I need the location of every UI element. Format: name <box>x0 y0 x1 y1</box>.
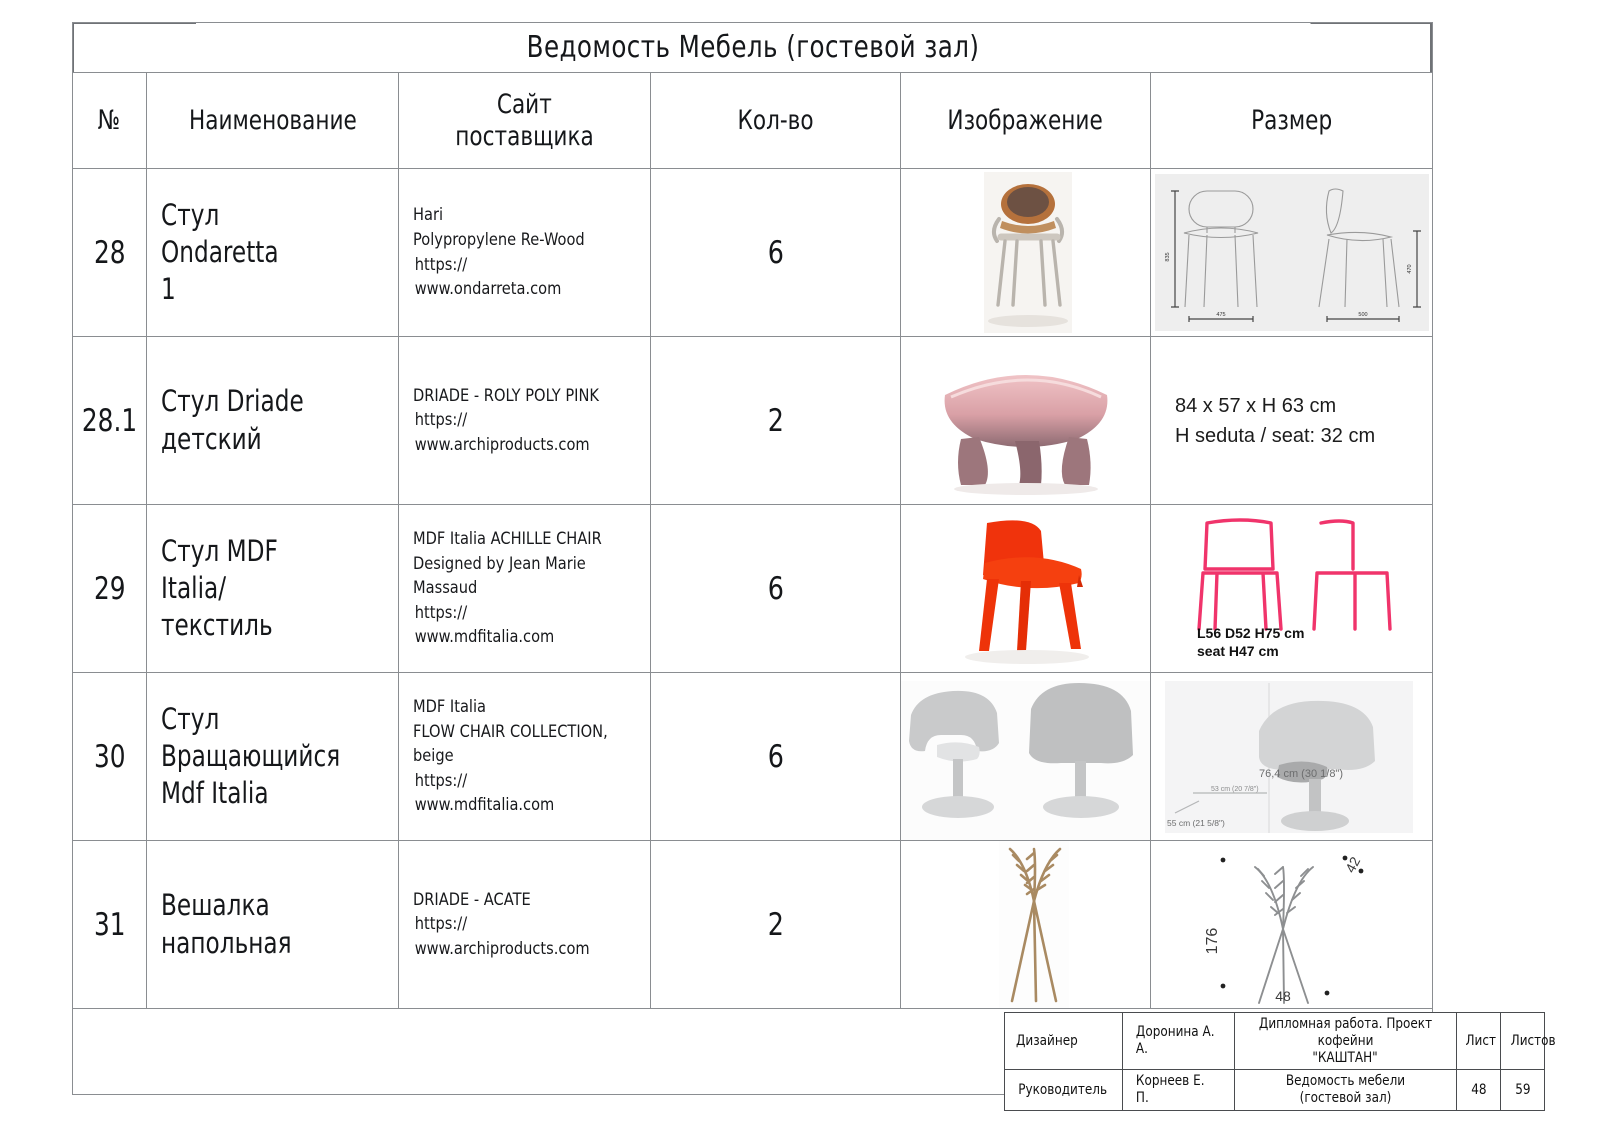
title-block-role-label: Дизайнер <box>1016 1033 1078 1050</box>
table-row: 31 Вешалка напольная DRIADE - ACATE http… <box>73 841 1433 1009</box>
title-block-person-supervisor: Корнеев Е. П. <box>1123 1070 1235 1111</box>
row-name-line: Вешалка <box>161 887 343 924</box>
row-name: Стул Driade детский <box>147 337 399 505</box>
row-name: Вешалка напольная <box>147 841 399 1009</box>
title-block-person-name: Доронина А. А. <box>1136 1024 1221 1058</box>
size-text-lines: 84 x 57 x H 63 cm H seduta / seat: 32 cm <box>1151 391 1375 451</box>
project-title-line1: Дипломная работа. Проект кофейни <box>1256 1016 1436 1050</box>
row-quantity-value: 2 <box>767 907 783 943</box>
supplier-line: MDF Italia <box>413 695 608 720</box>
sheet-label: Лист <box>1457 1013 1501 1070</box>
column-header-image: Изображение <box>901 73 1151 169</box>
column-header-name-label: Наименование <box>189 105 357 136</box>
pink-chair-outline-front-side: L56 D52 H75 cm seat H47 cm <box>1151 505 1432 672</box>
row-quantity: 2 <box>651 841 901 1009</box>
supplier-url-line[interactable]: https:// <box>413 408 608 433</box>
size-text-line: H seduta / seat: 32 cm <box>1175 421 1375 451</box>
chair-photo-illustration <box>901 169 1150 336</box>
row-number: 28 <box>73 169 147 337</box>
column-header-quantity: Кол-во <box>651 73 901 169</box>
row-name-line: Italia/ <box>161 570 343 607</box>
project-title-line2: "КАШТАН" <box>1313 1050 1378 1067</box>
row-quantity: 6 <box>651 673 901 841</box>
row-quantity-value: 2 <box>767 403 783 439</box>
supplier-line: MDF Italia ACHILLE CHAIR <box>413 527 608 552</box>
row-quantity: 2 <box>651 337 901 505</box>
chair-photo-illustration <box>901 673 1150 840</box>
svg-text:835: 835 <box>1165 252 1171 261</box>
row-quantity-value: 6 <box>767 571 783 607</box>
supplier-line: FLOW CHAIR COLLECTION, <box>413 720 608 745</box>
title-block: Дизайнер Доронина А. А. Дипломная работа… <box>1004 1012 1545 1111</box>
chair-photo-illustration <box>901 337 1150 504</box>
supplier-url-line[interactable]: www.mdfitalia.com <box>413 625 608 650</box>
row-supplier: MDF Italia FLOW CHAIR COLLECTION, beige … <box>399 673 651 841</box>
table-row: 28 Стул Ondaretta 1 Hari Polypropylene R… <box>73 169 1433 337</box>
row-number: 28.1 <box>73 337 147 505</box>
size-caption-line: seat H47 cm <box>1197 642 1304 660</box>
sheets-label: Листов <box>1501 1013 1545 1070</box>
chair-front-side-technical-drawing: 835 475 500 470 <box>1151 169 1432 336</box>
ondaretta-hari-chair-photo <box>901 169 1150 336</box>
supplier-url-line[interactable]: www.archiproducts.com <box>413 433 608 458</box>
row-number-value: 28.1 <box>82 403 137 439</box>
coat-stand-photo-illustration <box>901 841 1150 1008</box>
size-caption-line: L56 D52 H75 cm <box>1197 624 1304 642</box>
row-name: Стул Вращающийся Mdf Italia <box>147 673 399 841</box>
size-caption: L56 D52 H75 cm seat H47 cm <box>1197 624 1304 660</box>
project-title: Дипломная работа. Проект кофейни "КАШТАН… <box>1235 1013 1457 1070</box>
furniture-specification-table: Ведомость Мебель (гостевой зал) № Наимен… <box>72 22 1433 1095</box>
row-supplier: Hari Polypropylene Re-Wood https:// www.… <box>399 169 651 337</box>
row-name-line: Стул MDF <box>161 533 343 570</box>
row-product-image <box>901 505 1151 673</box>
column-header-number: № <box>73 73 147 169</box>
supplier-line: DRIADE - ROLY POLY PINK <box>413 384 608 409</box>
row-quantity-value: 6 <box>767 235 783 271</box>
row-number: 31 <box>73 841 147 1009</box>
row-name-line: текстиль <box>161 607 343 644</box>
supplier-url-line[interactable]: https:// <box>413 601 608 626</box>
supplier-line: Massaud <box>413 576 608 601</box>
mdf-italia-flow-chair-grey-pair-photo <box>901 673 1150 840</box>
supplier-line: Designed by Jean Marie <box>413 552 608 577</box>
sheet-number-value: 48 <box>1471 1082 1486 1099</box>
row-size: 76,4 cm (30 1/8") 53 cm (20 7/8") 55 cm … <box>1151 673 1433 841</box>
row-supplier: DRIADE - ROLY POLY PINK https:// www.arc… <box>399 337 651 505</box>
row-name-line: Стул <box>161 701 343 738</box>
svg-text:76,4 cm (30 1/8"): 76,4 cm (30 1/8") <box>1259 768 1343 780</box>
title-block-role-label: Руководитель <box>1018 1082 1107 1099</box>
drawing-sheet: Ведомость Мебель (гостевой зал) № Наимен… <box>0 0 1600 1132</box>
column-header-image-label: Изображение <box>948 105 1103 136</box>
row-product-image <box>901 337 1151 505</box>
supplier-url-line[interactable]: https:// <box>413 769 608 794</box>
column-header-quantity-label: Кол-во <box>737 105 813 136</box>
technical-dimension-drawing: 835 475 500 470 <box>1151 169 1432 336</box>
row-quantity-value: 6 <box>767 739 783 775</box>
dimension-drawing: 176 42 48 <box>1151 841 1432 1008</box>
sheet-subject: Ведомость мебели (гостевой зал) <box>1235 1070 1457 1111</box>
row-name-line: детский <box>161 421 343 458</box>
row-number: 29 <box>73 505 147 673</box>
supplier-url-line[interactable]: www.ondarreta.com <box>413 277 608 302</box>
row-product-image <box>901 841 1151 1009</box>
row-name: Стул MDF Italia/ текстиль <box>147 505 399 673</box>
sheet-label-text: Лист <box>1465 1033 1496 1050</box>
row-number-value: 28 <box>94 235 126 271</box>
row-number: 30 <box>73 673 147 841</box>
svg-text:500: 500 <box>1358 312 1367 318</box>
row-size: 84 x 57 x H 63 cm H seduta / seat: 32 cm <box>1151 337 1433 505</box>
sheet-subject-text: Ведомость мебели (гостевой зал) <box>1256 1073 1436 1107</box>
svg-text:475: 475 <box>1216 312 1225 318</box>
title-block-role-designer: Дизайнер <box>1005 1013 1123 1070</box>
size-text-line: 84 x 57 x H 63 cm <box>1175 391 1375 421</box>
flow-chair-dimensioned-photo: 76,4 cm (30 1/8") 53 cm (20 7/8") 55 cm … <box>1151 673 1432 840</box>
svg-text:55 cm (21 5/8"): 55 cm (21 5/8") <box>1167 818 1225 828</box>
column-header-number-label: № <box>98 105 120 136</box>
row-size: L56 D52 H75 cm seat H47 cm <box>1151 505 1433 673</box>
row-product-image <box>901 673 1151 841</box>
supplier-url-line[interactable]: https:// <box>413 253 608 278</box>
row-name-line: Mdf Italia <box>161 775 343 812</box>
supplier-url-line[interactable]: https:// <box>413 912 608 937</box>
title-block-person-designer: Доронина А. А. <box>1123 1013 1235 1070</box>
row-name-line: Стул Ondaretta <box>161 197 343 271</box>
sheet-number: 48 <box>1457 1070 1501 1111</box>
column-header-size-label: Размер <box>1251 105 1332 136</box>
row-size: 835 475 500 470 <box>1151 169 1433 337</box>
row-number-value: 29 <box>94 571 126 607</box>
supplier-line: beige <box>413 744 608 769</box>
row-size: 176 42 48 <box>1151 841 1433 1009</box>
sheets-total-value: 59 <box>1515 1082 1530 1099</box>
table-row: 29 Стул MDF Italia/ текстиль MDF Italia … <box>73 505 1433 673</box>
row-supplier: DRIADE - ACATE https:// www.archiproduct… <box>399 841 651 1009</box>
supplier-url-line[interactable]: www.mdfitalia.com <box>413 793 608 818</box>
title-block-row-designer: Дизайнер Доронина А. А. Дипломная работа… <box>1005 1013 1545 1070</box>
title-block-row-supervisor: Руководитель Корнеев Е. П. Ведомость меб… <box>1005 1070 1545 1111</box>
chair-photo-illustration <box>901 505 1150 672</box>
row-number-value: 30 <box>94 739 126 775</box>
coat-stand-dimension-drawing: 176 42 48 <box>1151 841 1432 1008</box>
dimensioned-chair-photo: 76,4 cm (30 1/8") 53 cm (20 7/8") 55 cm … <box>1151 673 1432 840</box>
column-header-site-line1: Сайт <box>497 89 552 120</box>
svg-text:176: 176 <box>1204 928 1221 955</box>
sheets-total: 59 <box>1501 1070 1545 1111</box>
column-header-size: Размер <box>1151 73 1433 169</box>
row-supplier: MDF Italia ACHILLE CHAIR Designed by Jea… <box>399 505 651 673</box>
sheets-label-text: Листов <box>1511 1033 1556 1050</box>
size-text-block: 84 x 57 x H 63 cm H seduta / seat: 32 cm <box>1151 337 1432 504</box>
supplier-line: DRIADE - ACATE <box>413 888 608 913</box>
table-row: 28.1 Стул Driade детский DRIADE - ROLY P… <box>73 337 1433 505</box>
title-block-role-supervisor: Руководитель <box>1005 1070 1123 1111</box>
row-name-line: напольная <box>161 925 343 962</box>
row-name-line: 1 <box>161 271 343 308</box>
row-name: Стул Ondaretta 1 <box>147 169 399 337</box>
title-block-person-name: Корнеев Е. П. <box>1136 1073 1221 1107</box>
column-header-name: Наименование <box>147 73 399 169</box>
row-quantity: 6 <box>651 169 901 337</box>
mdf-italia-achille-red-chair-photo <box>901 505 1150 672</box>
row-quantity: 6 <box>651 505 901 673</box>
table-header-row: № Наименование Сайт поставщика Кол-во Из… <box>73 73 1433 169</box>
column-header-supplier-site: Сайт поставщика <box>399 73 651 169</box>
table-title-row: Ведомость Мебель (гостевой зал) <box>73 23 1433 73</box>
row-name-line: Стул Driade <box>161 383 343 420</box>
svg-text:53 cm (20 7/8"): 53 cm (20 7/8") <box>1211 786 1259 793</box>
svg-text:48: 48 <box>1275 988 1291 1004</box>
supplier-line: Polypropylene Re-Wood <box>413 228 608 253</box>
page-title: Ведомость Мебель (гостевой зал) <box>195 23 1310 73</box>
svg-text:470: 470 <box>1407 264 1413 273</box>
column-header-site-line2: поставщика <box>455 121 593 152</box>
row-number-value: 31 <box>94 907 126 943</box>
row-name-line: Вращающийся <box>161 738 343 775</box>
driade-roly-poly-pink-chair-photo <box>901 337 1150 504</box>
table-row: 30 Стул Вращающийся Mdf Italia MDF Itali… <box>73 673 1433 841</box>
supplier-url-line[interactable]: www.archiproducts.com <box>413 937 608 962</box>
driade-acate-coat-stand-photo <box>901 841 1150 1008</box>
supplier-line: Hari <box>413 203 608 228</box>
row-product-image <box>901 169 1151 337</box>
